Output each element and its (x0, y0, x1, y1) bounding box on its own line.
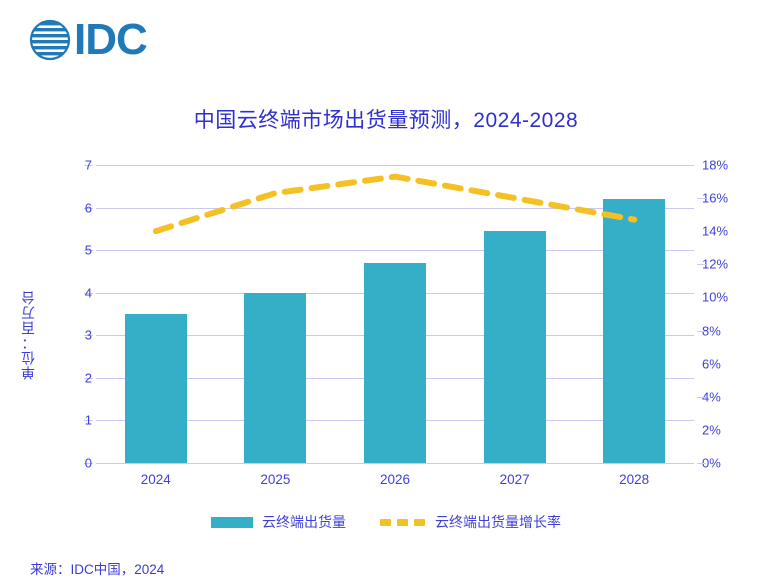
x-axis-tick-label: 2027 (455, 472, 575, 487)
y-axis-left-tick-label: 5 (52, 243, 92, 258)
y-axis-right-tick-label: 10% (702, 290, 746, 305)
legend-item[interactable]: 云终端出货量增长率 (380, 512, 561, 532)
y-axis-right-tick-label: 8% (702, 323, 746, 338)
y-axis-right-tick-label: 18% (702, 158, 746, 173)
y-axis-right-tick-label: 2% (702, 422, 746, 437)
source-note: 来源：IDC中国，2024 (30, 558, 164, 578)
y-axis-right-tick-label: 16% (702, 191, 746, 206)
x-axis-tick-label: 2026 (335, 472, 455, 487)
x-axis-tick-label: 2025 (216, 472, 336, 487)
y-axis-right-tick (697, 331, 706, 332)
chart-plot-area: 01234567 0%2%4%6%8%10%12%14%16%18% 20242… (0, 0, 772, 587)
y-axis-right-tick (697, 198, 706, 199)
y-axis-right-tick (697, 397, 706, 398)
y-axis-right-tick (697, 463, 706, 464)
y-axis-left-tick-label: 6 (52, 200, 92, 215)
y-axis-right-tick-label: 4% (702, 389, 746, 404)
x-axis-tick-label: 2024 (96, 472, 216, 487)
y-axis-left-tick-label: 4 (52, 285, 92, 300)
legend-dashed-line-swatch (380, 519, 426, 526)
y-axis-left-tick-label: 0 (52, 456, 92, 471)
chart-canvas: 01234567 0%2%4%6%8%10%12%14%16%18% (96, 165, 694, 463)
y-axis-right-tick-label: 12% (702, 257, 746, 272)
legend-bar-swatch (211, 517, 253, 528)
growth-rate-line-series (96, 165, 694, 463)
y-axis-left-tick-label: 1 (52, 413, 92, 428)
y-axis-right-tick (697, 264, 706, 265)
y-axis-right-tick-label: 6% (702, 356, 746, 371)
legend-label: 云终端出货量 (262, 512, 346, 532)
y-axis-right-tick-label: 14% (702, 224, 746, 239)
chart-legend: 云终端出货量云终端出货量增长率 (0, 512, 772, 532)
x-axis-tick-label: 2028 (574, 472, 694, 487)
y-axis-left-tick-label: 2 (52, 370, 92, 385)
y-axis-left-tick-label: 7 (52, 158, 92, 173)
y-axis-left-tick-label: 3 (52, 328, 92, 343)
gridline (96, 463, 694, 464)
y-axis-right-tick-label: 0% (702, 456, 746, 471)
legend-label: 云终端出货量增长率 (435, 512, 561, 532)
legend-item[interactable]: 云终端出货量 (211, 512, 346, 532)
